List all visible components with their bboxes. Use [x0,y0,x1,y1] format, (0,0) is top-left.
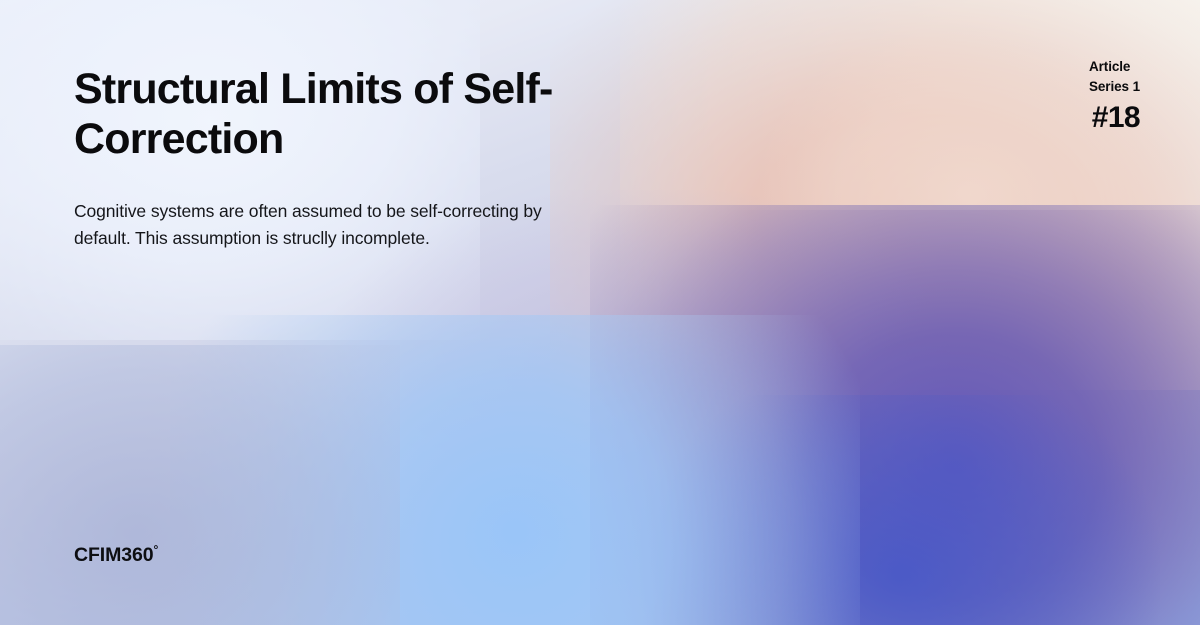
page-subtitle: Cognitive systems are often assumed to b… [74,198,579,253]
page-title: Structural Limits of Self-Correction [74,64,674,165]
article-cover-card: Structural Limits of Self-Correction Cog… [0,0,1200,625]
brand-logo-name: CFIM360 [74,544,154,566]
degree-icon: ° [154,543,159,557]
article-series-badge: Article Series 1 #18 [1089,57,1140,133]
card-content: Structural Limits of Self-Correction Cog… [0,0,1200,625]
brand-logo: CFIM360° [74,544,158,567]
article-number: #18 [1089,103,1140,133]
article-series-label: Article Series 1 [1089,57,1140,98]
